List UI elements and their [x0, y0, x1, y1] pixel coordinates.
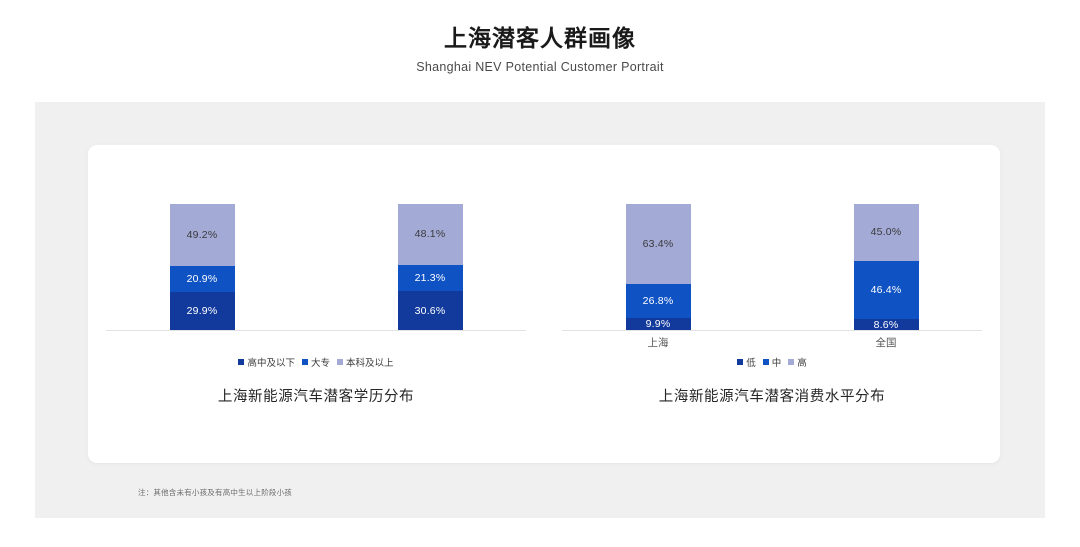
legend-swatch-icon	[788, 359, 794, 365]
page-title: 上海潜客人群画像	[0, 24, 1080, 53]
category-label: 全国	[846, 335, 926, 350]
legend-item[interactable]: 低	[737, 355, 756, 369]
category-label: 上海	[618, 335, 698, 350]
bar-value-label: 29.9%	[187, 305, 218, 317]
bar-segment[interactable]: 63.4%	[626, 204, 691, 284]
bar-segment[interactable]: 48.1%	[398, 204, 463, 265]
bar-value-label: 30.6%	[415, 305, 446, 317]
category-labels	[88, 335, 544, 353]
legend-label: 高	[797, 355, 807, 369]
stacked-bar[interactable]: 49.2%20.9%29.9%	[170, 204, 235, 330]
bar-segment[interactable]: 45.0%	[854, 204, 919, 261]
chart-2: 63.4%26.8%9.9%45.0%46.4%8.6%上海全国低中高上海新能源…	[544, 145, 1000, 415]
stacked-bar[interactable]: 45.0%46.4%8.6%	[854, 204, 919, 330]
bar-segment[interactable]: 30.6%	[398, 291, 463, 330]
bar-segment[interactable]: 49.2%	[170, 204, 235, 266]
bar-value-label: 48.1%	[415, 228, 446, 240]
slide-panel: 49.2%20.9%29.9%48.1%21.3%30.6%高中及以下大专本科及…	[35, 102, 1045, 518]
legend-item[interactable]: 大专	[302, 355, 330, 369]
bar-segment[interactable]: 8.6%	[854, 319, 919, 330]
chart-legend: 高中及以下大专本科及以上	[88, 355, 544, 369]
bar-value-label: 8.6%	[874, 319, 899, 330]
bar-segment[interactable]: 46.4%	[854, 261, 919, 319]
plot-area: 63.4%26.8%9.9%45.0%46.4%8.6%	[544, 145, 1000, 335]
chart-1: 49.2%20.9%29.9%48.1%21.3%30.6%高中及以下大专本科及…	[88, 145, 544, 415]
legend-swatch-icon	[737, 359, 743, 365]
bar-segment[interactable]: 20.9%	[170, 266, 235, 292]
charts-row: 49.2%20.9%29.9%48.1%21.3%30.6%高中及以下大专本科及…	[88, 145, 1000, 415]
bar-value-label: 46.4%	[871, 284, 902, 296]
legend-label: 本科及以上	[346, 355, 394, 369]
bar-value-label: 26.8%	[643, 295, 674, 307]
bar-segment[interactable]: 9.9%	[626, 318, 691, 330]
chart-caption: 上海新能源汽车潜客学历分布	[88, 385, 544, 406]
legend-label: 大专	[311, 355, 330, 369]
chart-legend: 低中高	[544, 355, 1000, 369]
legend-item[interactable]: 中	[763, 355, 782, 369]
legend-label: 中	[772, 355, 782, 369]
bar-value-label: 49.2%	[187, 229, 218, 241]
legend-item[interactable]: 高中及以下	[238, 355, 295, 369]
chart-caption: 上海新能源汽车潜客消费水平分布	[544, 385, 1000, 406]
legend-swatch-icon	[238, 359, 244, 365]
bar-value-label: 63.4%	[643, 238, 674, 250]
plot-area: 49.2%20.9%29.9%48.1%21.3%30.6%	[88, 145, 544, 335]
category-labels: 上海全国	[544, 335, 1000, 353]
legend-swatch-icon	[302, 359, 308, 365]
footnote: 注：其他含未有小孩及有高中生以上阶段小孩	[138, 487, 292, 498]
stacked-bar[interactable]: 48.1%21.3%30.6%	[398, 204, 463, 330]
bar-segment[interactable]: 21.3%	[398, 265, 463, 292]
bar-value-label: 20.9%	[187, 273, 218, 285]
bar-value-label: 45.0%	[871, 226, 902, 238]
page-subtitle: Shanghai NEV Potential Customer Portrait	[0, 60, 1080, 74]
legend-label: 低	[746, 355, 756, 369]
x-axis-line	[562, 330, 982, 331]
bar-segment[interactable]: 29.9%	[170, 292, 235, 330]
x-axis-line	[106, 330, 526, 331]
chart-card: 49.2%20.9%29.9%48.1%21.3%30.6%高中及以下大专本科及…	[88, 145, 1000, 463]
bar-segment[interactable]: 26.8%	[626, 284, 691, 318]
legend-swatch-icon	[763, 359, 769, 365]
legend-item[interactable]: 高	[788, 355, 807, 369]
bar-value-label: 21.3%	[415, 272, 446, 284]
legend-label: 高中及以下	[247, 355, 295, 369]
stacked-bar[interactable]: 63.4%26.8%9.9%	[626, 204, 691, 330]
page-header: 上海潜客人群画像 Shanghai NEV Potential Customer…	[0, 0, 1080, 74]
bar-value-label: 9.9%	[646, 318, 671, 330]
legend-item[interactable]: 本科及以上	[337, 355, 394, 369]
legend-swatch-icon	[337, 359, 343, 365]
